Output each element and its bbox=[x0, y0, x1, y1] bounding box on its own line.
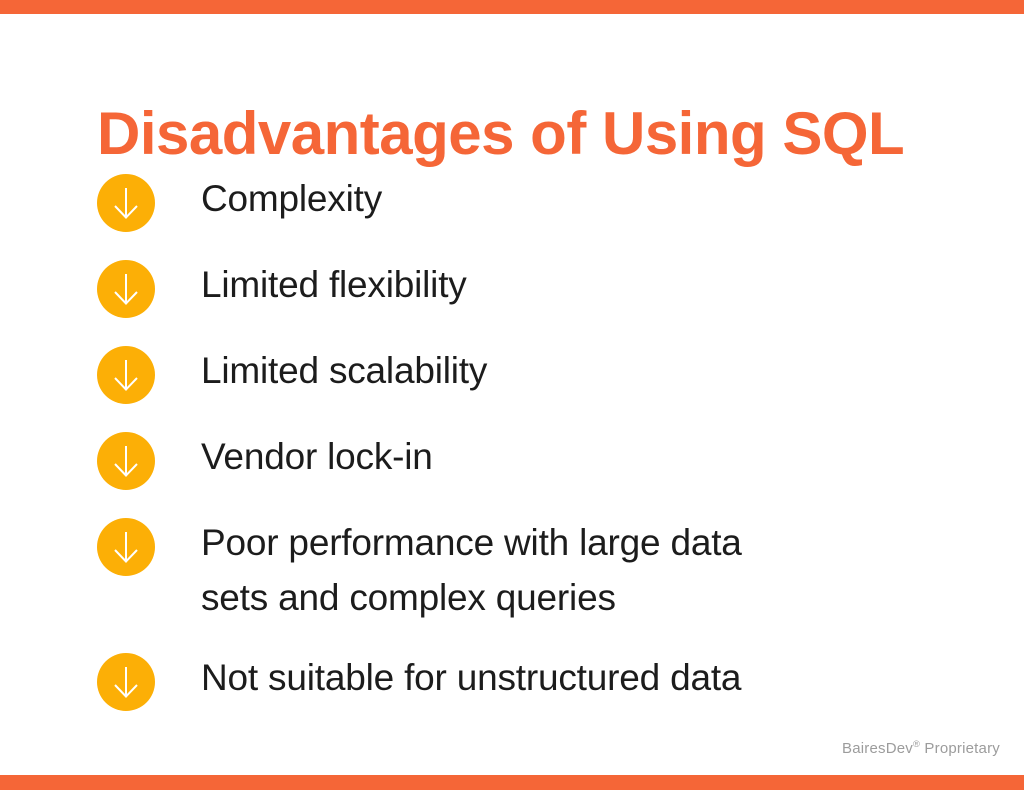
list-item-label: Limited scalability bbox=[201, 343, 957, 398]
arrow-down-icon bbox=[97, 432, 155, 490]
slide: Disadvantages of Using SQL ComplexityLim… bbox=[0, 0, 1024, 790]
top-accent-bar bbox=[0, 0, 1024, 14]
list-item: Not suitable for unstructured data bbox=[97, 651, 957, 711]
list-item: Limited scalability bbox=[97, 344, 957, 404]
bottom-accent-bar bbox=[0, 775, 1024, 790]
list-item-line: Limited scalability bbox=[201, 343, 957, 398]
list-item-line: Not suitable for unstructured data bbox=[201, 650, 957, 705]
list-item-label: Poor performance with large datasets and… bbox=[201, 515, 957, 625]
list-item-line: Poor performance with large data bbox=[201, 515, 957, 570]
list-item: Poor performance with large datasets and… bbox=[97, 516, 957, 625]
list-item: Limited flexibility bbox=[97, 258, 957, 318]
list-item: Complexity bbox=[97, 172, 957, 232]
arrow-down-icon bbox=[97, 518, 155, 576]
arrow-down-icon bbox=[97, 174, 155, 232]
list-item-line: Complexity bbox=[201, 171, 957, 226]
list-item-line: Vendor lock-in bbox=[201, 429, 957, 484]
page-title: Disadvantages of Using SQL bbox=[97, 101, 904, 167]
arrow-down-icon bbox=[97, 653, 155, 711]
list-item-label: Limited flexibility bbox=[201, 257, 957, 312]
list-item-label: Complexity bbox=[201, 171, 957, 226]
disadvantages-list: ComplexityLimited flexibilityLimited sca… bbox=[97, 172, 957, 711]
footer-suffix: Proprietary bbox=[920, 740, 1000, 757]
list-item-label: Vendor lock-in bbox=[201, 429, 957, 484]
arrow-down-icon bbox=[97, 346, 155, 404]
list-item-label: Not suitable for unstructured data bbox=[201, 650, 957, 705]
list-item-line: sets and complex queries bbox=[201, 570, 957, 625]
registered-trademark-icon: ® bbox=[913, 739, 920, 749]
arrow-down-icon bbox=[97, 260, 155, 318]
list-item: Vendor lock-in bbox=[97, 430, 957, 490]
list-item-line: Limited flexibility bbox=[201, 257, 957, 312]
footer-proprietary-note: BairesDev® Proprietary bbox=[842, 740, 1000, 757]
footer-brand: BairesDev bbox=[842, 740, 913, 757]
